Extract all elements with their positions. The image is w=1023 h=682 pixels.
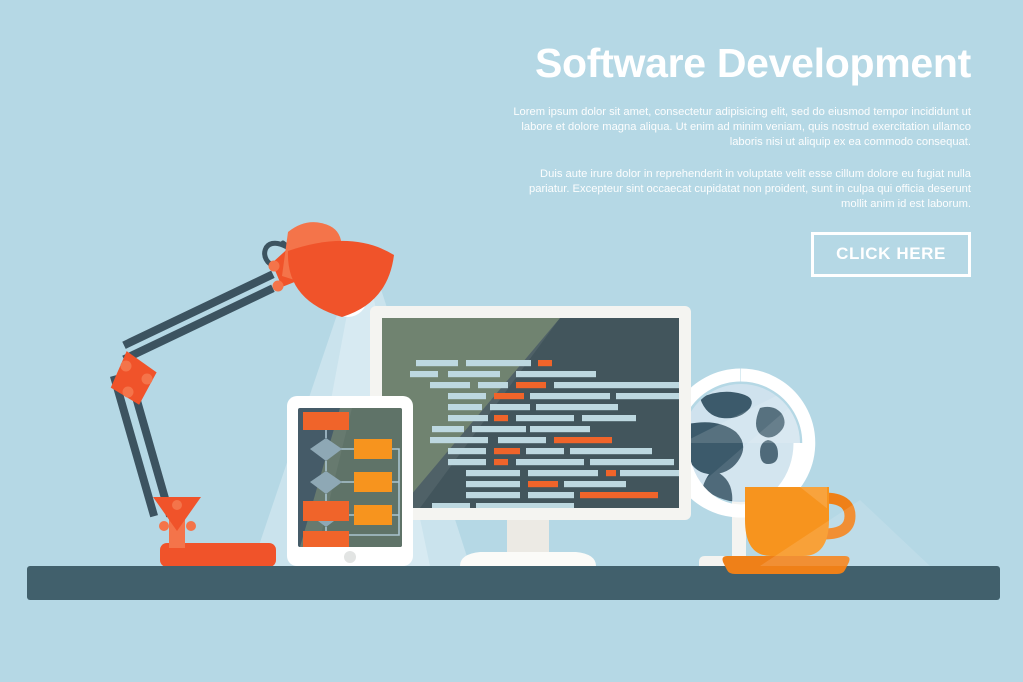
code-line-segment (448, 459, 486, 465)
code-line-segment (536, 404, 618, 410)
code-line-segment (430, 382, 470, 388)
code-line-segment (530, 426, 590, 432)
code-line-segment (466, 492, 520, 498)
code-line-segment (564, 481, 626, 487)
lamp-base-joint (153, 497, 201, 531)
code-line-segment (478, 382, 508, 388)
page-title: Software Development (501, 42, 971, 85)
flow-end-node (303, 531, 349, 549)
code-line-segment (528, 492, 574, 498)
flow-merge-node (303, 501, 349, 521)
code-line-segment (448, 448, 486, 454)
code-line-segment (494, 393, 524, 399)
code-line-segment (516, 371, 596, 377)
code-line-segment (516, 415, 574, 421)
desk (27, 566, 1000, 600)
code-line-segment (466, 360, 531, 366)
desk-surface (27, 566, 1000, 600)
code-line-segment (590, 459, 674, 465)
illustration-stage: Software Development Lorem ipsum dolor s… (0, 0, 1023, 682)
code-line-segment (448, 371, 500, 377)
code-line-segment (432, 426, 464, 432)
hero-text-block: Software Development Lorem ipsum dolor s… (501, 42, 971, 277)
code-line-segment (494, 459, 508, 465)
code-line-segment (582, 415, 636, 421)
monitor-foot (460, 552, 596, 566)
code-line-segment (580, 492, 658, 498)
code-line-segment (528, 470, 598, 476)
code-line-segment (516, 382, 546, 388)
code-line-segment (526, 448, 564, 454)
code-line-segment (466, 481, 520, 487)
tablet-home-button[interactable] (344, 551, 356, 563)
code-line-segment (530, 393, 610, 399)
code-line-segment (410, 371, 438, 377)
code-line-segment (430, 437, 488, 443)
code-line-segment (466, 470, 520, 476)
code-line-segment (416, 360, 458, 366)
lamp-upper-arm (122, 271, 274, 363)
code-line-segment (448, 393, 486, 399)
flow-start-node (303, 412, 349, 430)
code-line-segment (494, 448, 520, 454)
hero-paragraph-1: Lorem ipsum dolor sit amet, consectetur … (501, 105, 971, 151)
code-line-segment (606, 470, 616, 476)
code-line-segment (448, 404, 482, 410)
code-line-segment (494, 415, 508, 421)
code-line-segment (448, 415, 488, 421)
code-line-segment (554, 437, 612, 443)
code-line-segment (498, 437, 546, 443)
flow-branch-2 (354, 472, 392, 492)
click-here-button[interactable]: CLICK HERE (811, 232, 971, 277)
code-line-segment (472, 426, 526, 432)
code-line-segment (570, 448, 652, 454)
flow-branch-1 (354, 439, 392, 459)
code-line-segment (554, 382, 686, 388)
code-line-segment (516, 459, 584, 465)
flow-branch-3 (354, 505, 392, 525)
code-line-segment (490, 404, 530, 410)
code-line-segment (528, 481, 558, 487)
tablet (287, 396, 413, 566)
hero-paragraph-2: Duis aute irure dolor in reprehenderit i… (501, 167, 971, 213)
code-line-segment (538, 360, 552, 366)
